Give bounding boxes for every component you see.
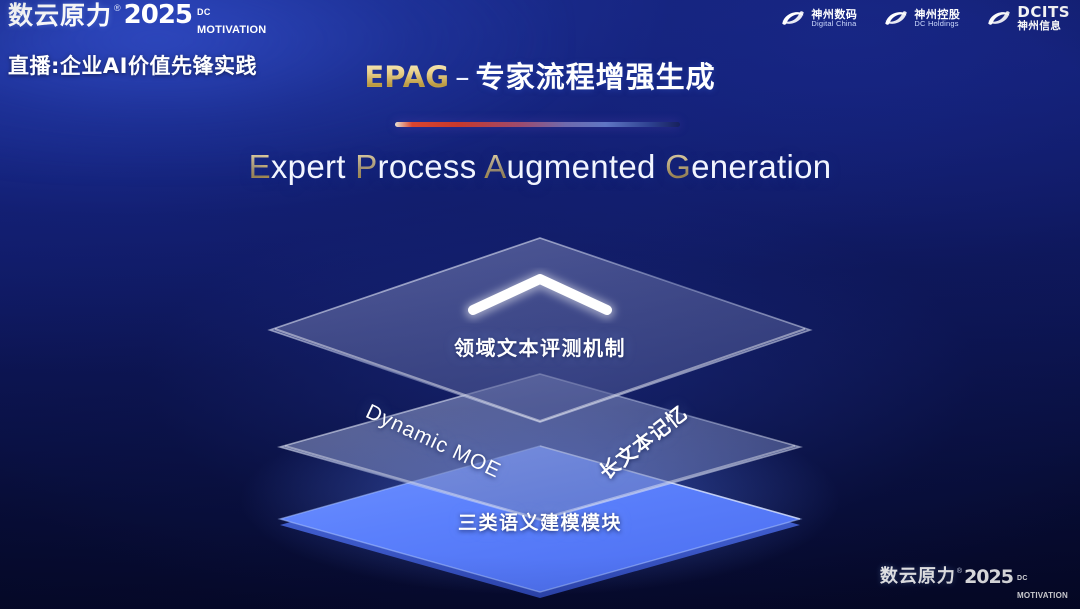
partner-name-en: DC Holdings bbox=[914, 20, 960, 28]
brand-name-cn: 数云原力 bbox=[8, 2, 112, 29]
brand-year: 2025 bbox=[124, 2, 192, 29]
partner-name-en: Digital China bbox=[811, 20, 857, 28]
bottom-layer-glow bbox=[240, 405, 840, 595]
registered-mark: ® bbox=[114, 2, 121, 14]
swirl-logo-icon bbox=[780, 7, 806, 29]
brand-dc: DC bbox=[197, 7, 211, 17]
title-acronym: EPAG bbox=[364, 60, 449, 94]
watermark-dc: DC bbox=[1017, 575, 1028, 582]
subtitle-rest-process: rocess bbox=[378, 148, 477, 185]
layer-middle-left-label: Dynamic MOE bbox=[362, 400, 505, 484]
layer-bottom bbox=[280, 446, 800, 598]
partner-label: DCITS 神州信息 bbox=[1017, 5, 1070, 32]
brand-motivation-block: DC MOTIVATION bbox=[197, 2, 266, 38]
subtitle-rest-generation: eneration bbox=[691, 148, 831, 185]
watermark-year: 2025 bbox=[964, 567, 1013, 587]
subtitle: Expert Process Augmented Generation bbox=[0, 148, 1080, 186]
brand-logo: 数云原力 ® 2025 DC MOTIVATION bbox=[8, 2, 266, 38]
partner-logo-group: 神州数码 Digital China 神州控股 DC Holdings DCIT… bbox=[780, 5, 1070, 32]
partner-label: 神州控股 DC Holdings bbox=[914, 9, 960, 28]
page-title: EPAG–专家流程增强生成 bbox=[0, 54, 1080, 96]
watermark-name-cn: 数云原力 bbox=[880, 567, 956, 587]
slide-canvas: 数云原力 ® 2025 DC MOTIVATION 直播:企业AI价值先锋实践 … bbox=[0, 0, 1080, 609]
subtitle-rest-expert: xpert bbox=[271, 148, 346, 185]
subtitle-cap-a: A bbox=[484, 148, 506, 185]
subtitle-cap-p: P bbox=[355, 148, 377, 185]
swirl-logo-icon bbox=[883, 7, 909, 29]
watermark-motivation: MOTIVATION bbox=[1017, 591, 1068, 600]
subtitle-cap-g: G bbox=[665, 148, 691, 185]
layer-middle bbox=[280, 374, 800, 520]
layer-top-label: 领域文本评测机制 bbox=[454, 332, 626, 361]
watermark-logo: 数云原力 ® 2025 DC MOTIVATION bbox=[880, 567, 1068, 603]
partner-logo-dcits: DCITS 神州信息 bbox=[986, 5, 1070, 32]
partner-logo-dc-holdings: 神州控股 DC Holdings bbox=[883, 7, 960, 29]
watermark-registered: ® bbox=[957, 567, 962, 576]
layer-bottom-label: 三类语义建模模块 bbox=[458, 508, 622, 535]
swirl-logo-icon bbox=[986, 7, 1012, 29]
layer-top bbox=[270, 238, 810, 422]
partner-name-en: 神州信息 bbox=[1017, 21, 1070, 32]
title-dash: – bbox=[449, 60, 476, 94]
title-divider bbox=[395, 122, 680, 127]
brand-motivation: MOTIVATION bbox=[197, 24, 266, 36]
title-chinese: 专家流程增强生成 bbox=[476, 60, 716, 94]
layer-middle-right-label: 长文本记忆 bbox=[592, 398, 693, 485]
partner-logo-digital-china: 神州数码 Digital China bbox=[780, 7, 857, 29]
partner-label: 神州数码 Digital China bbox=[811, 9, 857, 28]
chevron-up-icon bbox=[473, 279, 607, 311]
subtitle-cap-e: E bbox=[249, 148, 271, 185]
subtitle-rest-augmented: ugmented bbox=[507, 148, 656, 185]
partner-name-cn: DCITS bbox=[1017, 5, 1070, 21]
watermark-motivation-block: DC MOTIVATION bbox=[1017, 567, 1068, 603]
